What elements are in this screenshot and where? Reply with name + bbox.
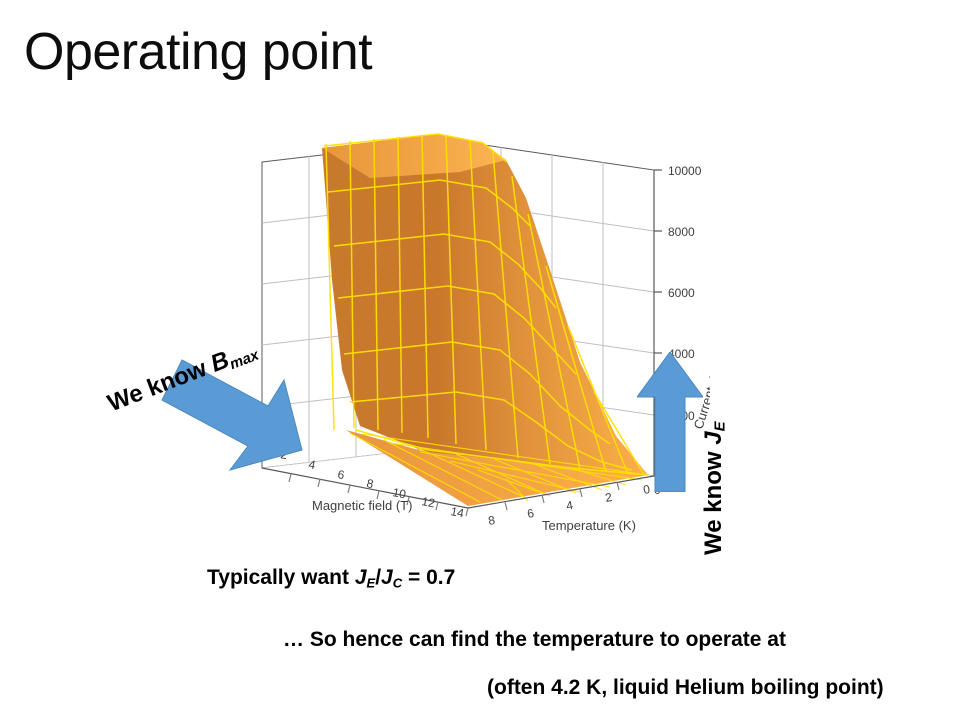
- y-tick-4: 4: [565, 498, 574, 513]
- page-title: Operating point: [24, 24, 372, 81]
- je-symbol: J: [700, 431, 727, 444]
- x-tick-14: 14: [449, 504, 465, 520]
- x-tick-12: 12: [420, 494, 436, 510]
- right-arrow-shape: [637, 352, 703, 492]
- line1-je-subscript: E: [367, 575, 376, 590]
- line1-jc-symbol: J: [381, 566, 393, 589]
- line1-je-symbol: J: [355, 566, 367, 589]
- z-tick-8000: 8000: [668, 225, 695, 239]
- je-subscript: E: [713, 421, 729, 431]
- line1-jc-subscript: C: [393, 575, 402, 590]
- x-axis-title: Magnetic field (T): [312, 498, 412, 513]
- je-prefix: We know: [700, 445, 727, 555]
- y-tick-6: 6: [526, 506, 535, 521]
- z-tick-10000: 10000: [668, 164, 702, 178]
- we-know-je-label: We know JE: [700, 421, 729, 555]
- line1-suffix: = 0.7: [402, 566, 455, 589]
- body-line-so-hence: … So hence can find the temperature to o…: [283, 628, 786, 652]
- y-tick-2: 2: [604, 490, 613, 505]
- y-tick-8: 8: [487, 513, 496, 528]
- body-line-typically-want: Typically want JE/JC = 0.7: [207, 566, 455, 590]
- we-know-je-arrow: [637, 352, 703, 492]
- y-axis-title: Temperature (K): [542, 518, 636, 533]
- body-line-helium: (often 4.2 K, liquid Helium boiling poin…: [487, 676, 884, 700]
- line1-prefix: Typically want: [207, 566, 355, 589]
- z-tick-6000: 6000: [668, 286, 695, 300]
